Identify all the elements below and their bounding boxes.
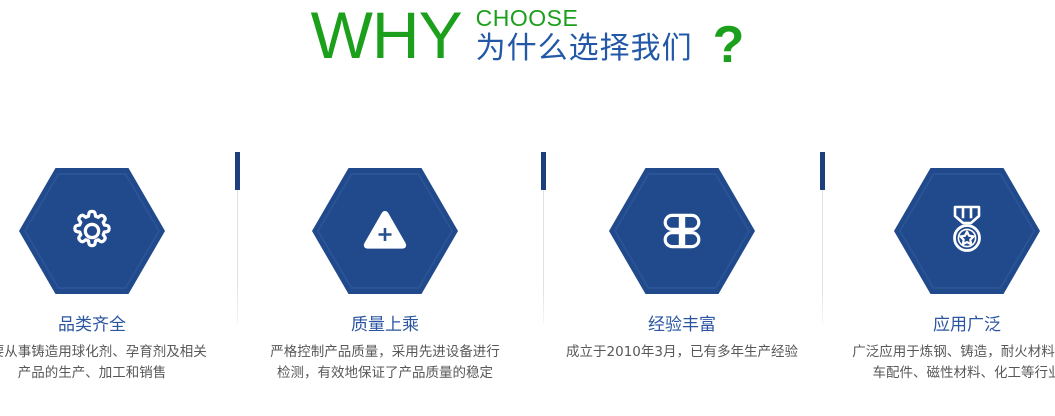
feature-column-1: 品类齐全 主要从事铸造用球化剂、孕育剂及相关产品的生产、加工和销售 xyxy=(0,150,224,416)
clover-icon xyxy=(609,168,755,294)
feature-column-2: 质量上乘 严格控制产品质量，采用先进设备进行检测，有效地保证了产品质量的稳定 xyxy=(253,150,517,416)
feature-body-1: 主要从事铸造用球化剂、孕育剂及相关产品的生产、加工和销售 xyxy=(0,342,211,384)
heading-inner: WHY CHOOSE 为什么选择我们 ? xyxy=(311,0,745,74)
hexagon-badge-4 xyxy=(894,168,1040,294)
hexagon-badge-3 xyxy=(609,168,755,294)
feature-title-2: 质量上乘 xyxy=(351,314,419,336)
feature-title-1: 品类齐全 xyxy=(58,314,126,336)
page-heading: WHY CHOOSE 为什么选择我们 ? xyxy=(0,0,1055,100)
heading-why-word: WHY xyxy=(311,2,462,68)
feature-body-4: 广泛应用于炼钢、铸造，耐火材料、汽车配件、磁性材料、化工等行业 xyxy=(848,342,1055,384)
heading-chinese-subtitle: 为什么选择我们 xyxy=(476,31,693,67)
feature-title-3: 经验丰富 xyxy=(648,314,716,336)
feature-body-2: 严格控制产品质量，采用先进设备进行检测，有效地保证了产品质量的稳定 xyxy=(266,342,504,384)
heading-question-mark: ? xyxy=(707,2,745,74)
feature-column-4: 应用广泛 广泛应用于炼钢、铸造，耐火材料、汽车配件、磁性材料、化工等行业 xyxy=(835,150,1055,416)
feature-column-3: 经验丰富 成立于2010年3月，已有多年生产经验 xyxy=(550,150,814,416)
feature-body-3: 成立于2010年3月，已有多年生产经验 xyxy=(563,342,801,363)
feature-columns: 品类齐全 主要从事铸造用球化剂、孕育剂及相关产品的生产、加工和销售 质量上乘 严… xyxy=(0,150,1055,416)
heading-text-stack: CHOOSE 为什么选择我们 xyxy=(476,2,693,67)
medal-icon xyxy=(894,168,1040,294)
feature-title-4: 应用广泛 xyxy=(933,314,1001,336)
heading-choose-word: CHOOSE xyxy=(476,6,579,31)
hexagon-badge-2 xyxy=(312,168,458,294)
hexagon-badge-1 xyxy=(19,168,165,294)
gear-icon xyxy=(19,168,165,294)
triangle-plus-icon xyxy=(312,168,458,294)
